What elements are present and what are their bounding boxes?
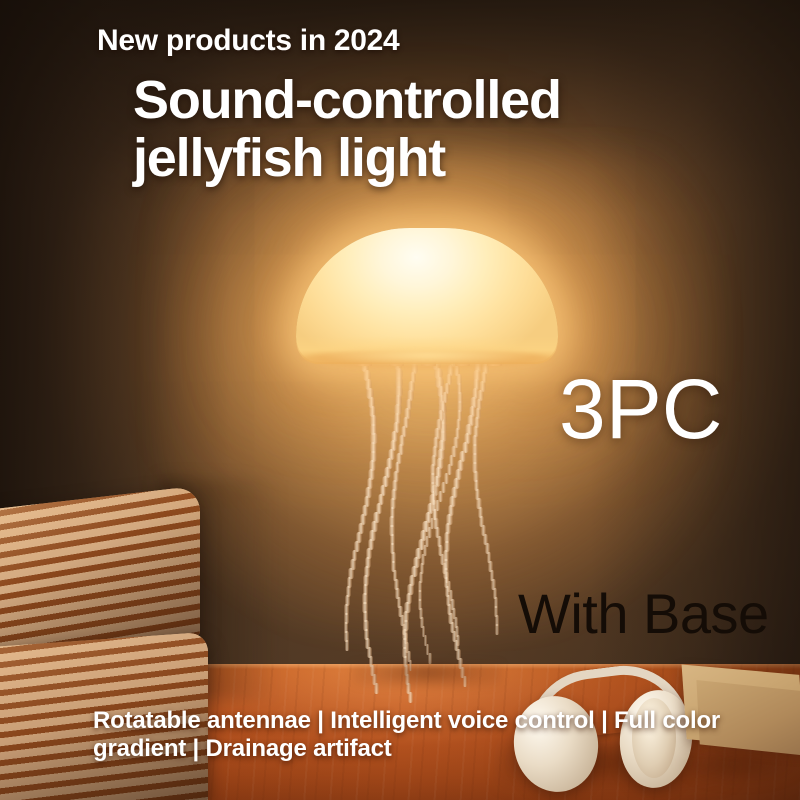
lamp-underglow (300, 350, 554, 368)
feature-list-text: Rotatable antennae | Intelligent voice c… (93, 707, 743, 763)
eyebrow-text: New products in 2024 (97, 24, 399, 58)
with-base-badge: With Base (518, 586, 769, 642)
title-line-2: jellyfish light (133, 130, 733, 188)
page-title: Sound-controlled jellyfish light (133, 72, 733, 188)
tentacle-segment (345, 640, 350, 651)
tentacle-segment (408, 692, 413, 703)
title-line-1: Sound-controlled (133, 70, 561, 130)
product-poster: New products in 2024 Sound-controlled je… (0, 0, 800, 800)
lamp-base-shadow (352, 662, 502, 688)
tentacle-segment (495, 624, 499, 635)
quantity-badge: 3PC (559, 367, 722, 451)
